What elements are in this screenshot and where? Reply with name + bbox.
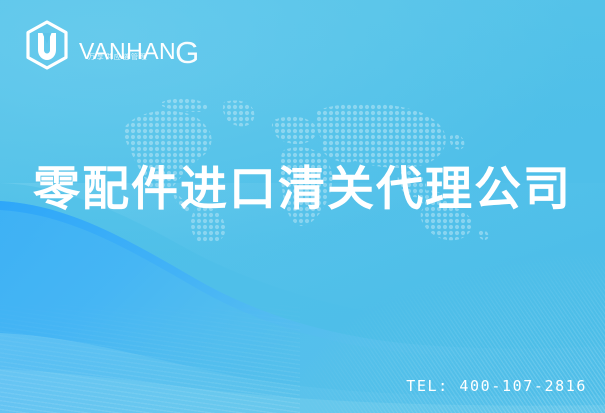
diagonal-line-texture-left bbox=[0, 293, 300, 413]
company-logo[interactable]: VANHANG 万享供应链管理 bbox=[24, 20, 194, 70]
telephone-number: TEL: 400-107-2816 bbox=[406, 377, 587, 395]
page-title: 零配件进口清关代理公司 bbox=[0, 165, 605, 216]
logo-text-block: VANHANG 万享供应链管理 bbox=[79, 22, 194, 68]
promotional-banner: VANHANG 万享供应链管理 零配件进口清关代理公司 TEL: 400-107… bbox=[0, 0, 605, 413]
logo-wordmark-g: G bbox=[175, 35, 200, 70]
logo-subtitle: 万享供应链管理 bbox=[88, 52, 148, 62]
hexagon-u-logo-icon bbox=[24, 20, 70, 70]
